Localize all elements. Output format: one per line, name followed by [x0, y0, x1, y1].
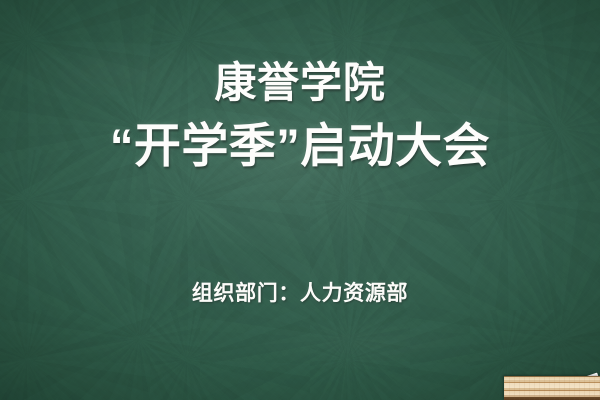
chalk-ledge: [504, 376, 600, 400]
slide-subtitle-organizing-department: 组织部门：人力资源部: [0, 277, 600, 307]
slide-content: 康誉学院 “开学季”启动大会 组织部门：人力资源部: [0, 0, 600, 400]
slide-title: 康誉学院 “开学季”启动大会: [0, 62, 600, 169]
wooden-tray: [504, 376, 600, 400]
title-line-institution: 康誉学院: [0, 62, 600, 104]
chalkboard-title-slide: 康誉学院 “开学季”启动大会 组织部门：人力资源部: [0, 0, 600, 400]
title-line-event: “开学季”启动大会: [0, 122, 600, 169]
